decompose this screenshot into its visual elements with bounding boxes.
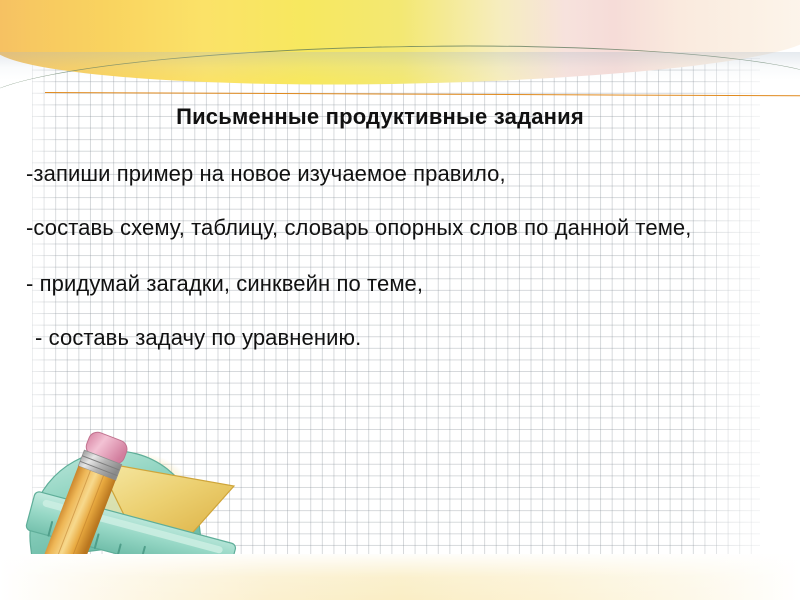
list-item: - составь задачу по уравнению. xyxy=(26,324,746,352)
banner-haze xyxy=(0,52,800,80)
list-item: -составь схему, таблицу, словарь опорных… xyxy=(26,214,726,242)
slide: Письменные продуктивные задания -запиши … xyxy=(0,0,800,600)
bottom-band-softener xyxy=(0,554,800,600)
list-item: -запиши пример на новое изучаемое правил… xyxy=(26,160,746,188)
list-item: - придумай загадки, синквейн по теме, xyxy=(26,270,746,298)
bullet-list: -запиши пример на новое изучаемое правил… xyxy=(26,160,746,353)
yellow-wave-banner xyxy=(0,0,800,96)
page-title: Письменные продуктивные задания xyxy=(0,104,760,130)
